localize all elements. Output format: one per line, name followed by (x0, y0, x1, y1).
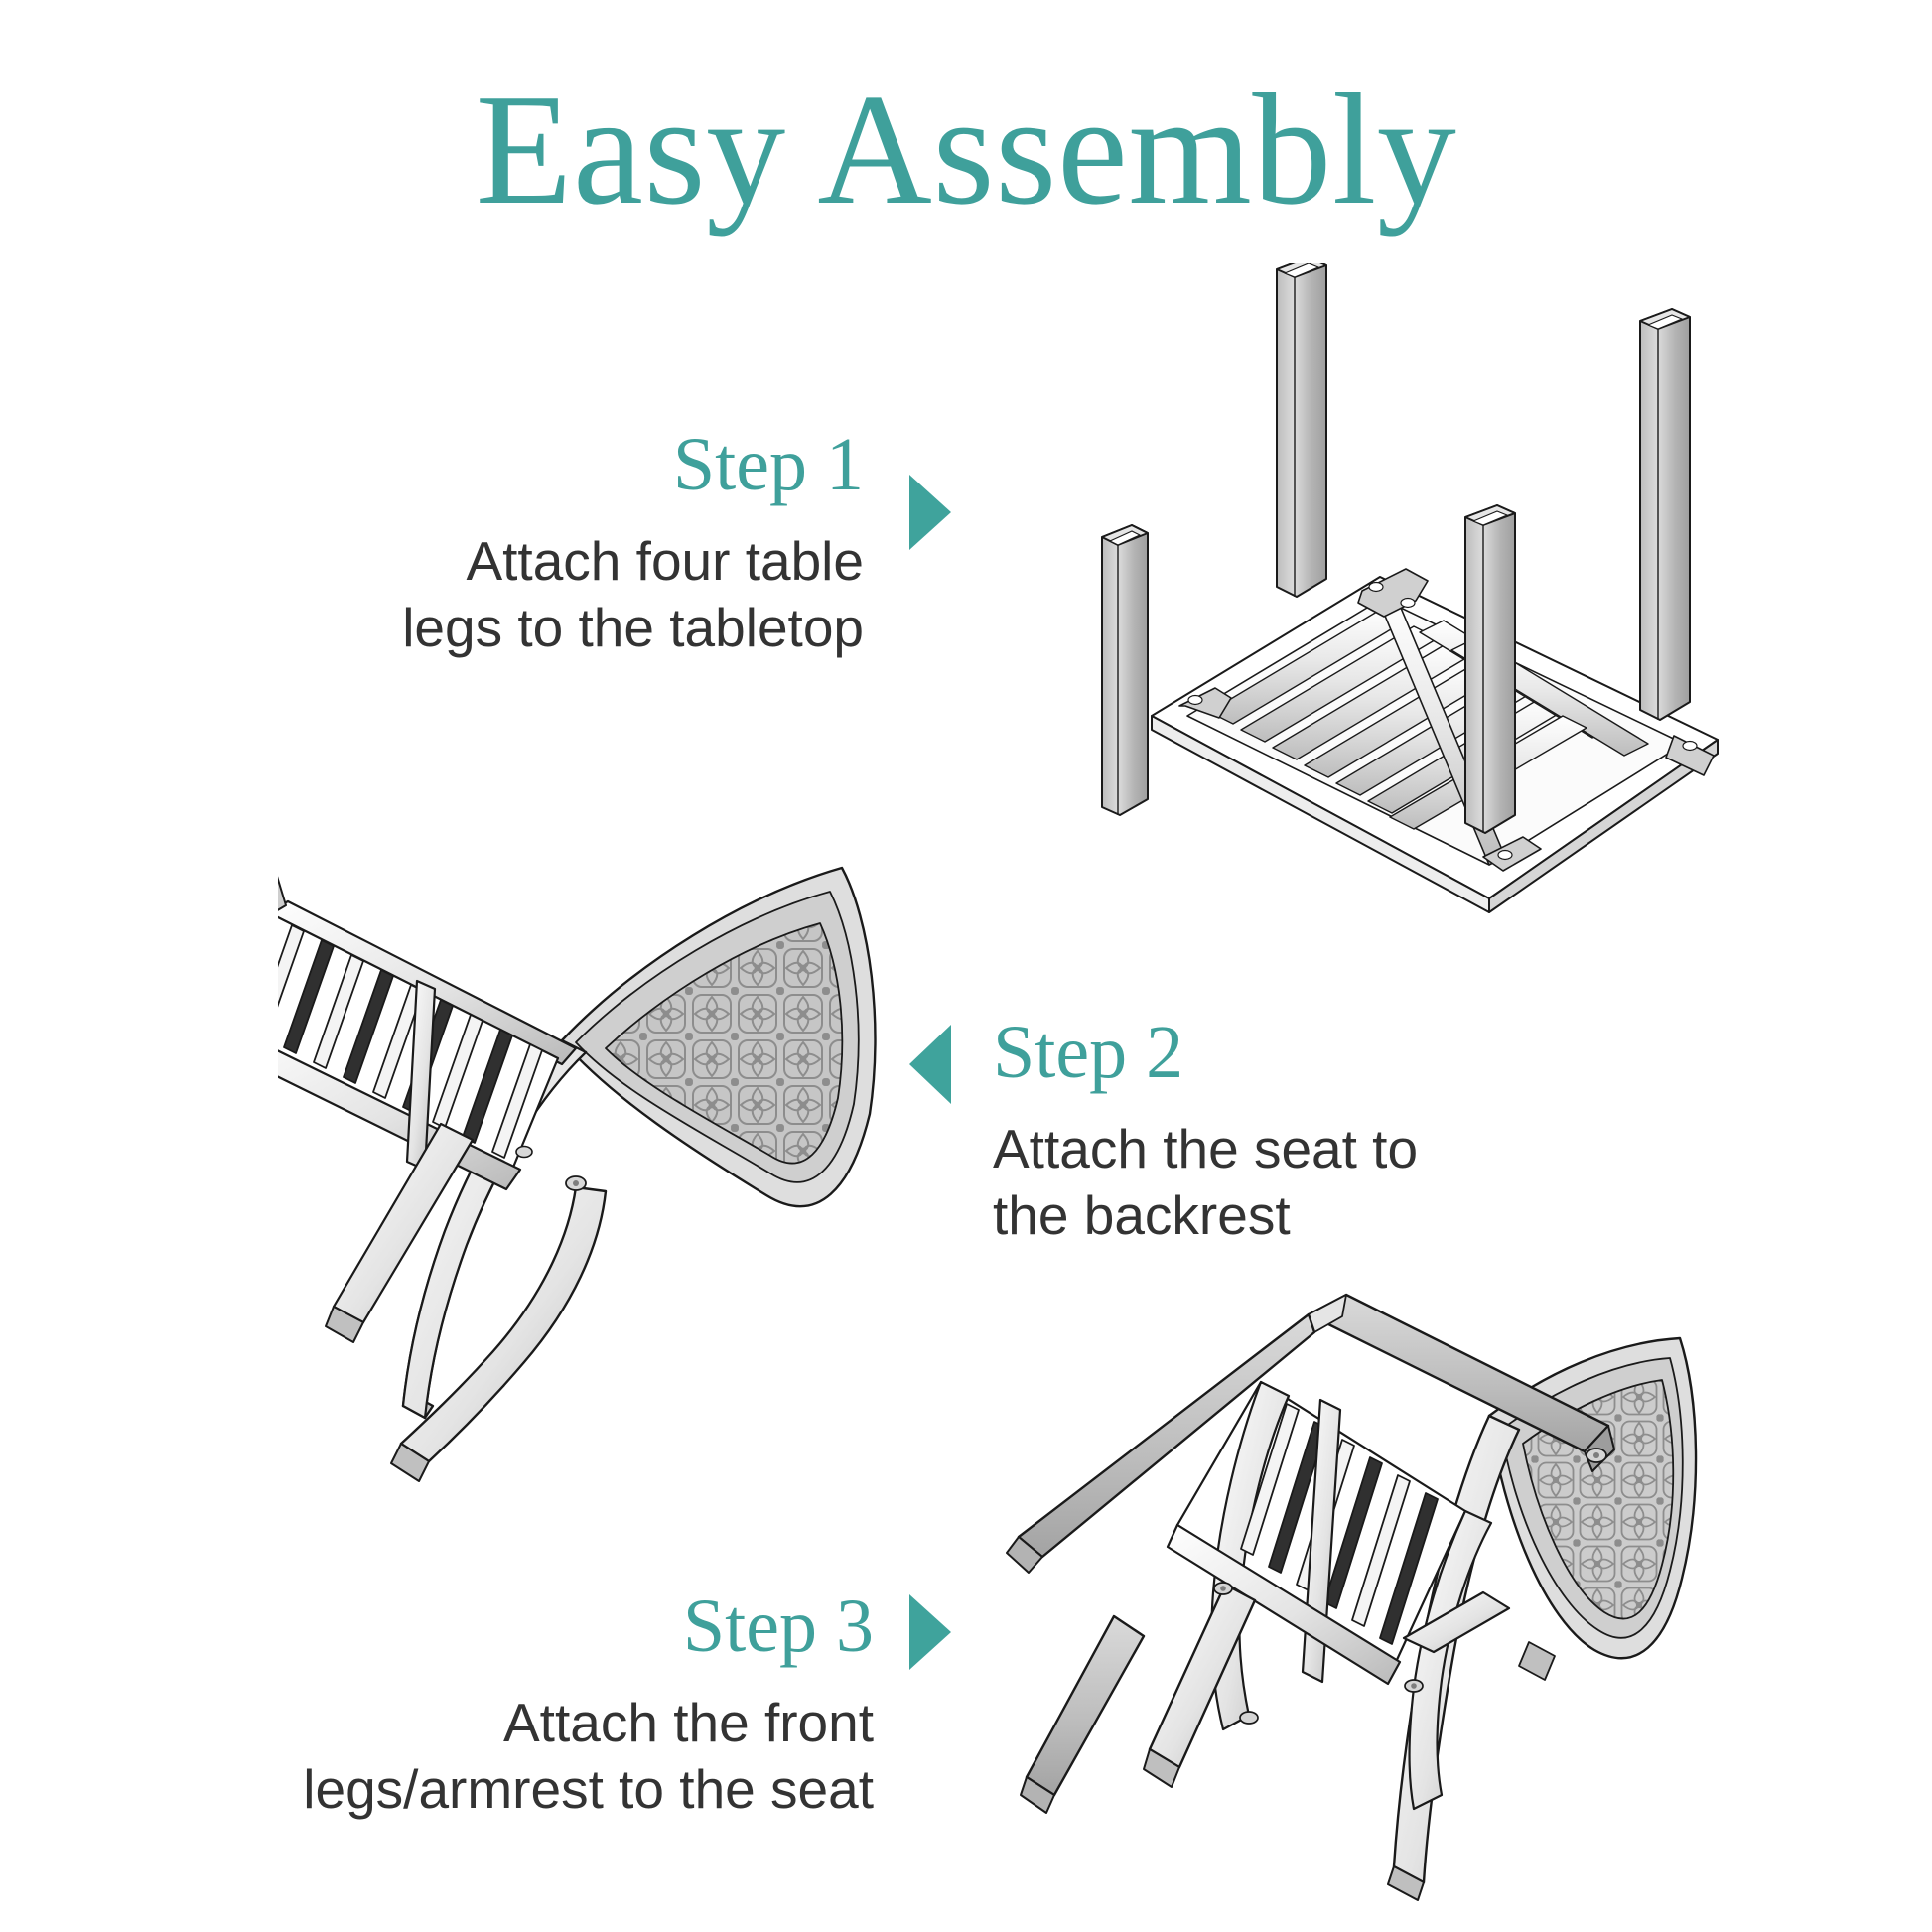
step-2-description: Attach the seat to the backrest (993, 1116, 1608, 1249)
table-legs-exploded-illustration (1092, 263, 1767, 918)
assembly-instruction-page: Easy Assembly Step 1 Attach four table l… (0, 0, 1932, 1932)
triangle-right-icon (909, 1594, 951, 1670)
step-3-label: Step 3 (199, 1588, 874, 1664)
triangle-right-icon (909, 475, 951, 550)
step-1-label: Step 1 (248, 427, 864, 502)
step-2-text-block: Step 2 Attach the seat to the backrest (993, 1015, 1608, 1249)
chair-backrest-seat-illustration (278, 854, 933, 1509)
step-2-label: Step 2 (993, 1015, 1608, 1090)
step-3-description: Attach the front legs/armrest to the sea… (199, 1690, 874, 1823)
step-3-text-block: Step 3 Attach the front legs/armrest to … (199, 1588, 874, 1823)
chair-armrest-front-legs-illustration (993, 1251, 1747, 1906)
step-1-text-block: Step 1 Attach four table legs to the tab… (248, 427, 864, 661)
step-1-description: Attach four table legs to the tabletop (248, 528, 864, 661)
page-title: Easy Assembly (0, 66, 1932, 232)
